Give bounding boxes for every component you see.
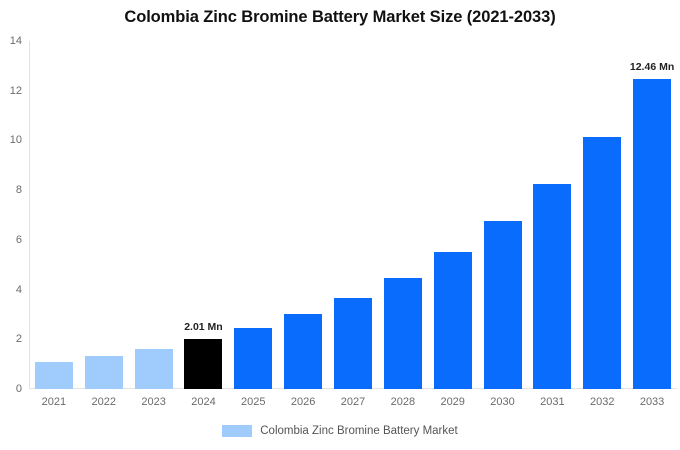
bar-value-label-2024: 2.01 Mn [184,321,223,333]
bar-2032[interactable] [583,137,621,389]
chart-legend: Colombia Zinc Bromine Battery Market [0,425,680,437]
x-tick-label-2025: 2025 [241,396,265,408]
bar-2029[interactable] [434,252,472,389]
bar-2024[interactable] [184,339,222,389]
legend-label-colombia-zinc-bromine-battery-market: Colombia Zinc Bromine Battery Market [260,425,457,437]
bar-2033[interactable] [633,79,671,389]
bar-2031[interactable] [533,184,571,389]
x-tick-label-2027: 2027 [341,396,365,408]
y-tick-label-10: 10 [10,134,22,146]
x-tick-label-2021: 2021 [42,396,66,408]
x-tick-label-2026: 2026 [291,396,315,408]
x-tick-label-2033: 2033 [640,396,664,408]
y-tick-label-12: 12 [10,85,22,97]
y-tick-label-2: 2 [16,333,22,345]
x-tick-label-2028: 2028 [391,396,415,408]
bar-2030[interactable] [484,221,522,389]
plot-area: 02468101214 2.01 Mn12.46 Mn [29,41,677,389]
bar-2021[interactable] [35,362,73,389]
x-tick-label-2032: 2032 [590,396,614,408]
y-tick-label-0: 0 [16,383,22,395]
y-tick-label-14: 14 [10,35,22,47]
bar-2027[interactable] [334,298,372,389]
bar-2022[interactable] [85,356,123,389]
x-tick-label-2031: 2031 [540,396,564,408]
bar-2023[interactable] [135,349,173,389]
bar-value-label-2033: 12.46 Mn [630,61,674,73]
x-tick-label-2024: 2024 [191,396,215,408]
bar-2026[interactable] [284,314,322,389]
y-tick-label-8: 8 [16,184,22,196]
x-tick-label-2023: 2023 [141,396,165,408]
bar-2028[interactable] [384,278,422,389]
x-tick-label-2030: 2030 [490,396,514,408]
bar-2025[interactable] [234,328,272,389]
x-tick-label-2022: 2022 [92,396,116,408]
y-tick-label-4: 4 [16,284,22,296]
legend-swatch-colombia-zinc-bromine-battery-market [222,425,252,437]
x-tick-label-2029: 2029 [440,396,464,408]
bar-chart: Colombia Zinc Bromine Battery Market Siz… [0,0,680,450]
y-axis-line [29,41,30,389]
chart-title: Colombia Zinc Bromine Battery Market Siz… [0,8,680,27]
y-tick-label-6: 6 [16,234,22,246]
